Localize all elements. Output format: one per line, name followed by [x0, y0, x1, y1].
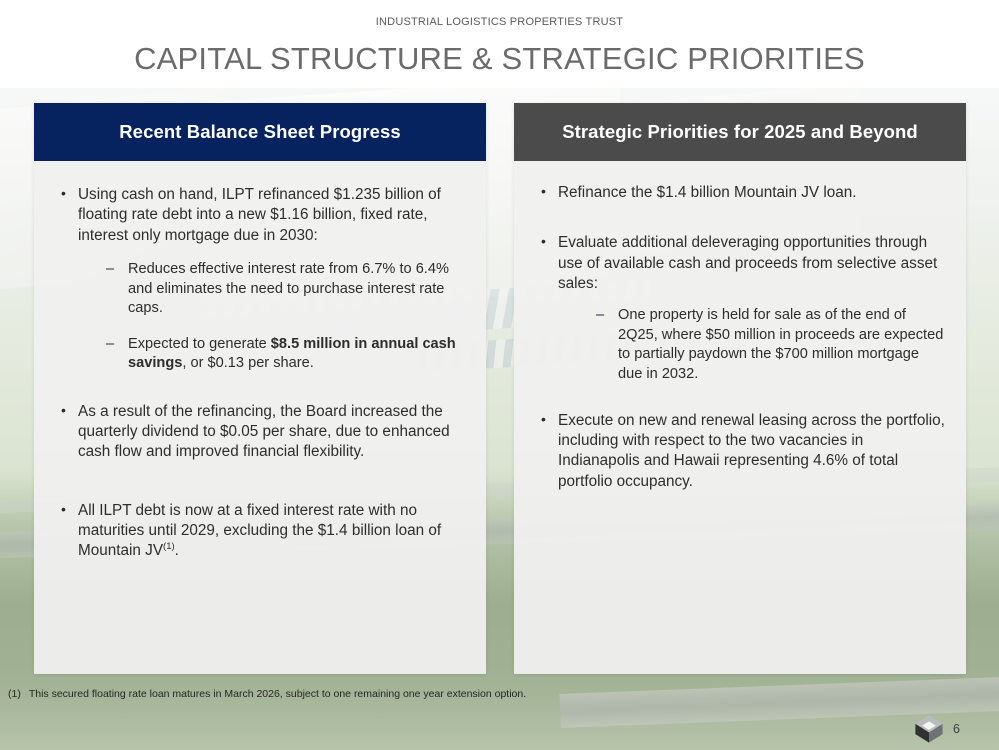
bullet-text: Refinance the $1.4 billion Mountain JV l…	[558, 184, 856, 201]
bullet-text: Evaluate additional deleveraging opportu…	[558, 234, 937, 292]
sub-list-item: Reduces effective interest rate from 6.7…	[104, 260, 466, 319]
sub-bullet-text-post: , or $0.13 per share.	[182, 355, 313, 371]
page-number: 6	[953, 722, 960, 736]
bullet-text: Execute on new and renewal leasing acros…	[558, 412, 945, 490]
sub-bullet-text: Reduces effective interest rate from 6.7…	[128, 261, 449, 316]
slide: INDUSTRIAL LOGISTICS PROPERTIES TRUST CA…	[0, 0, 999, 750]
list-item: As a result of the refinancing, the Boar…	[54, 402, 466, 463]
bullet-list-right: Refinance the $1.4 billion Mountain JV l…	[534, 183, 946, 492]
sub-bullet-text-pre: Expected to generate	[128, 336, 271, 352]
list-item: Using cash on hand, ILPT refinanced $1.2…	[54, 185, 466, 374]
bullet-text: Using cash on hand, ILPT refinanced $1.2…	[78, 186, 441, 244]
list-item: Execute on new and renewal leasing acros…	[534, 411, 946, 492]
panel-header-left: Recent Balance Sheet Progress	[34, 103, 486, 161]
panel-body-left: Using cash on hand, ILPT refinanced $1.2…	[34, 161, 486, 674]
bullet-text-tail: .	[175, 542, 179, 559]
panel-recent-balance-sheet-progress: Recent Balance Sheet Progress Using cash…	[34, 103, 486, 674]
page-title: CAPITAL STRUCTURE & STRATEGIC PRIORITIES	[0, 41, 999, 77]
list-item: Refinance the $1.4 billion Mountain JV l…	[534, 183, 946, 203]
cube-logo-icon	[912, 712, 946, 746]
sub-bullet-list: One property is held for sale as of the …	[558, 306, 946, 384]
page-badge: 6	[912, 712, 960, 746]
sub-bullet-text: One property is held for sale as of the …	[618, 307, 943, 382]
sub-bullet-list: Reduces effective interest rate from 6.7…	[78, 260, 466, 374]
bullet-text: All ILPT debt is now at a fixed interest…	[78, 502, 441, 560]
panel-header-right: Strategic Priorities for 2025 and Beyond	[514, 103, 966, 161]
footnote-text: This secured floating rate loan matures …	[29, 688, 526, 700]
list-item: Evaluate additional deleveraging opportu…	[534, 233, 946, 384]
footnote-marker: (1)	[163, 541, 175, 552]
company-name: INDUSTRIAL LOGISTICS PROPERTIES TRUST	[0, 16, 999, 28]
panel-body-right: Refinance the $1.4 billion Mountain JV l…	[514, 161, 966, 674]
bullet-text: As a result of the refinancing, the Boar…	[78, 403, 450, 461]
footnote-marker: (1)	[8, 688, 21, 700]
footnote: (1) This secured floating rate loan matu…	[8, 688, 526, 700]
panel-strategic-priorities: Strategic Priorities for 2025 and Beyond…	[514, 103, 966, 674]
sub-list-item: One property is held for sale as of the …	[594, 306, 946, 384]
bullet-list-left: Using cash on hand, ILPT refinanced $1.2…	[54, 185, 466, 562]
sub-list-item: Expected to generate $8.5 million in ann…	[104, 335, 466, 374]
list-item: All ILPT debt is now at a fixed interest…	[54, 501, 466, 562]
